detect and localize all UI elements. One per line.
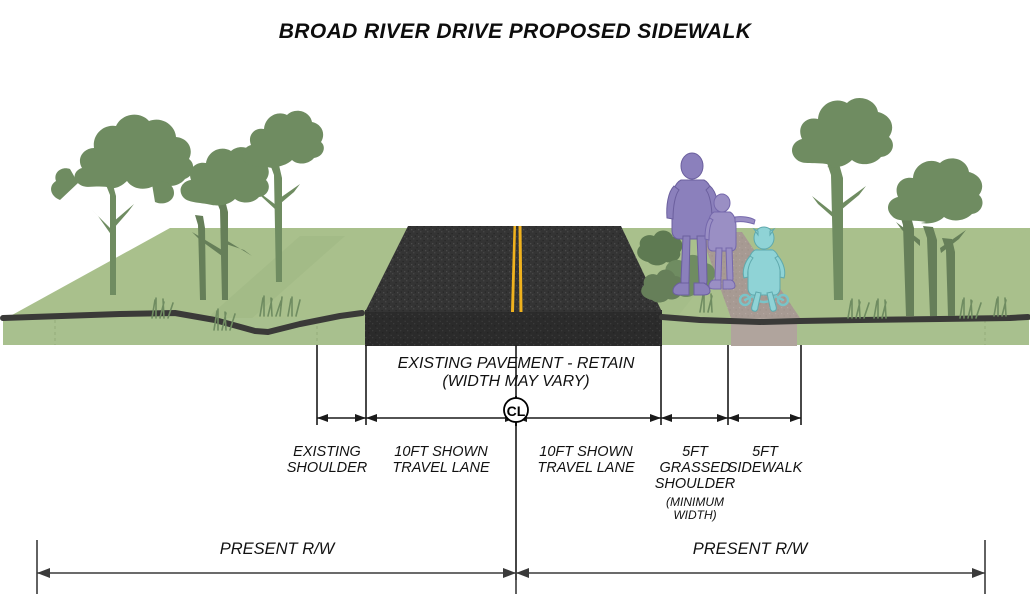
pavement-note: EXISTING PAVEMENT - RETAIN (WIDTH MAY VA… [366, 355, 666, 392]
dim-label-travel-lane-right: 10FT SHOWN TRAVEL LANE [521, 444, 651, 476]
rw-label-right: PRESENT R/W [610, 540, 890, 559]
centerline-label: CL [501, 403, 531, 419]
cross-section-diagram: BROAD RIVER DRIVE PROPOSED SIDEWALK EXIS… [0, 0, 1030, 594]
existing-pavement [365, 226, 662, 312]
rw-label-left: PRESENT R/W [137, 540, 417, 559]
existing-ground-line-right [662, 317, 1028, 322]
dim-label-sidewalk: 5FT SIDEWALK [710, 444, 820, 476]
section-artwork [0, 0, 1030, 594]
page-title: BROAD RIVER DRIVE PROPOSED SIDEWALK [0, 20, 1030, 44]
dim-label-existing-shoulder: EXISTING SHOULDER [272, 444, 382, 476]
dim-label-travel-lane-left: 10FT SHOWN TRAVEL LANE [376, 444, 506, 476]
dim-label-grassed-shoulder-sub: (MINIMUM WIDTH) [640, 496, 750, 523]
